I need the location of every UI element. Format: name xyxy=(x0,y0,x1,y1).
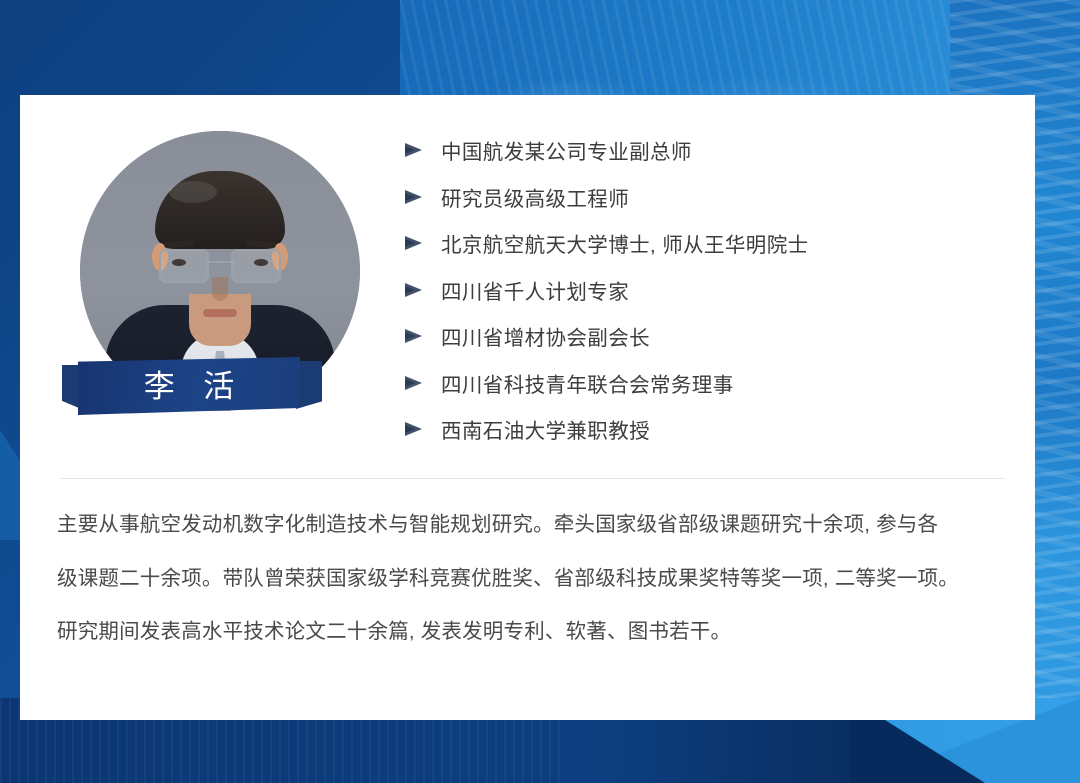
glasses-lens-left xyxy=(159,249,209,283)
biography-line: 级课题二十余项。带队曾荣获国家级学科竞赛优胜奖、省部级科技成果奖特等奖一项, 二… xyxy=(57,569,1012,590)
ribbon-body: 李 活 xyxy=(78,357,300,415)
decorative-triangle-top-left xyxy=(0,0,58,58)
list-item: 研究员级高级工程师 xyxy=(405,174,1005,221)
list-item: 四川省千人计划专家 xyxy=(405,267,1005,314)
list-item: 中国航发某公司专业副总师 xyxy=(405,127,1005,174)
profile-card: 李 活 中国航发某公司专业副总师 研究员级高级工程师 北京航空航天大学博士, 师… xyxy=(20,95,1035,720)
triangle-bullet-icon xyxy=(405,236,425,250)
glasses-icon xyxy=(159,249,281,279)
glasses-lens-right xyxy=(231,249,281,283)
list-item: 北京航空航天大学博士, 师从王华明院士 xyxy=(405,220,1005,267)
credential-label: 四川省增材协会副会长 xyxy=(441,321,650,351)
credential-label: 四川省科技青年联合会常务理事 xyxy=(441,368,734,398)
list-item: 西南石油大学兼职教授 xyxy=(405,406,1005,453)
list-item: 四川省增材协会副会长 xyxy=(405,313,1005,360)
slide-stage: 李 活 中国航发某公司专业副总师 研究员级高级工程师 北京航空航天大学博士, 师… xyxy=(0,0,1080,783)
triangle-bullet-icon xyxy=(405,190,425,204)
section-divider xyxy=(60,478,1005,479)
triangle-bullet-icon xyxy=(405,376,425,390)
biography-line: 研究期间发表高水平技术论文二十余篇, 发表发明专利、软著、图书若干。 xyxy=(57,622,1012,643)
triangle-bullet-icon xyxy=(405,143,425,157)
triangle-bullet-icon xyxy=(405,329,425,343)
credentials-list: 中国航发某公司专业副总师 研究员级高级工程师 北京航空航天大学博士, 师从王华明… xyxy=(405,127,1005,453)
credential-label: 北京航空航天大学博士, 师从王华明院士 xyxy=(441,228,809,258)
triangle-bullet-icon xyxy=(405,283,425,297)
photo-nose xyxy=(212,277,228,301)
photo-mouth xyxy=(203,309,237,317)
avatar-block: 李 活 xyxy=(62,125,342,425)
credential-label: 中国航发某公司专业副总师 xyxy=(441,135,692,165)
triangle-bullet-icon xyxy=(405,422,425,436)
list-item: 四川省科技青年联合会常务理事 xyxy=(405,360,1005,407)
credential-label: 四川省千人计划专家 xyxy=(441,275,629,305)
credential-label: 西南石油大学兼职教授 xyxy=(441,414,650,444)
biography-line: 主要从事航空发动机数字化制造技术与智能规划研究。牵头国家级省部级课题研究十余项,… xyxy=(57,515,1012,536)
biography-block: 主要从事航空发动机数字化制造技术与智能规划研究。牵头国家级省部级课题研究十余项,… xyxy=(57,515,1012,643)
name-ribbon: 李 活 xyxy=(62,357,322,423)
profile-name: 李 活 xyxy=(134,371,245,402)
credential-label: 研究员级高级工程师 xyxy=(441,182,629,212)
